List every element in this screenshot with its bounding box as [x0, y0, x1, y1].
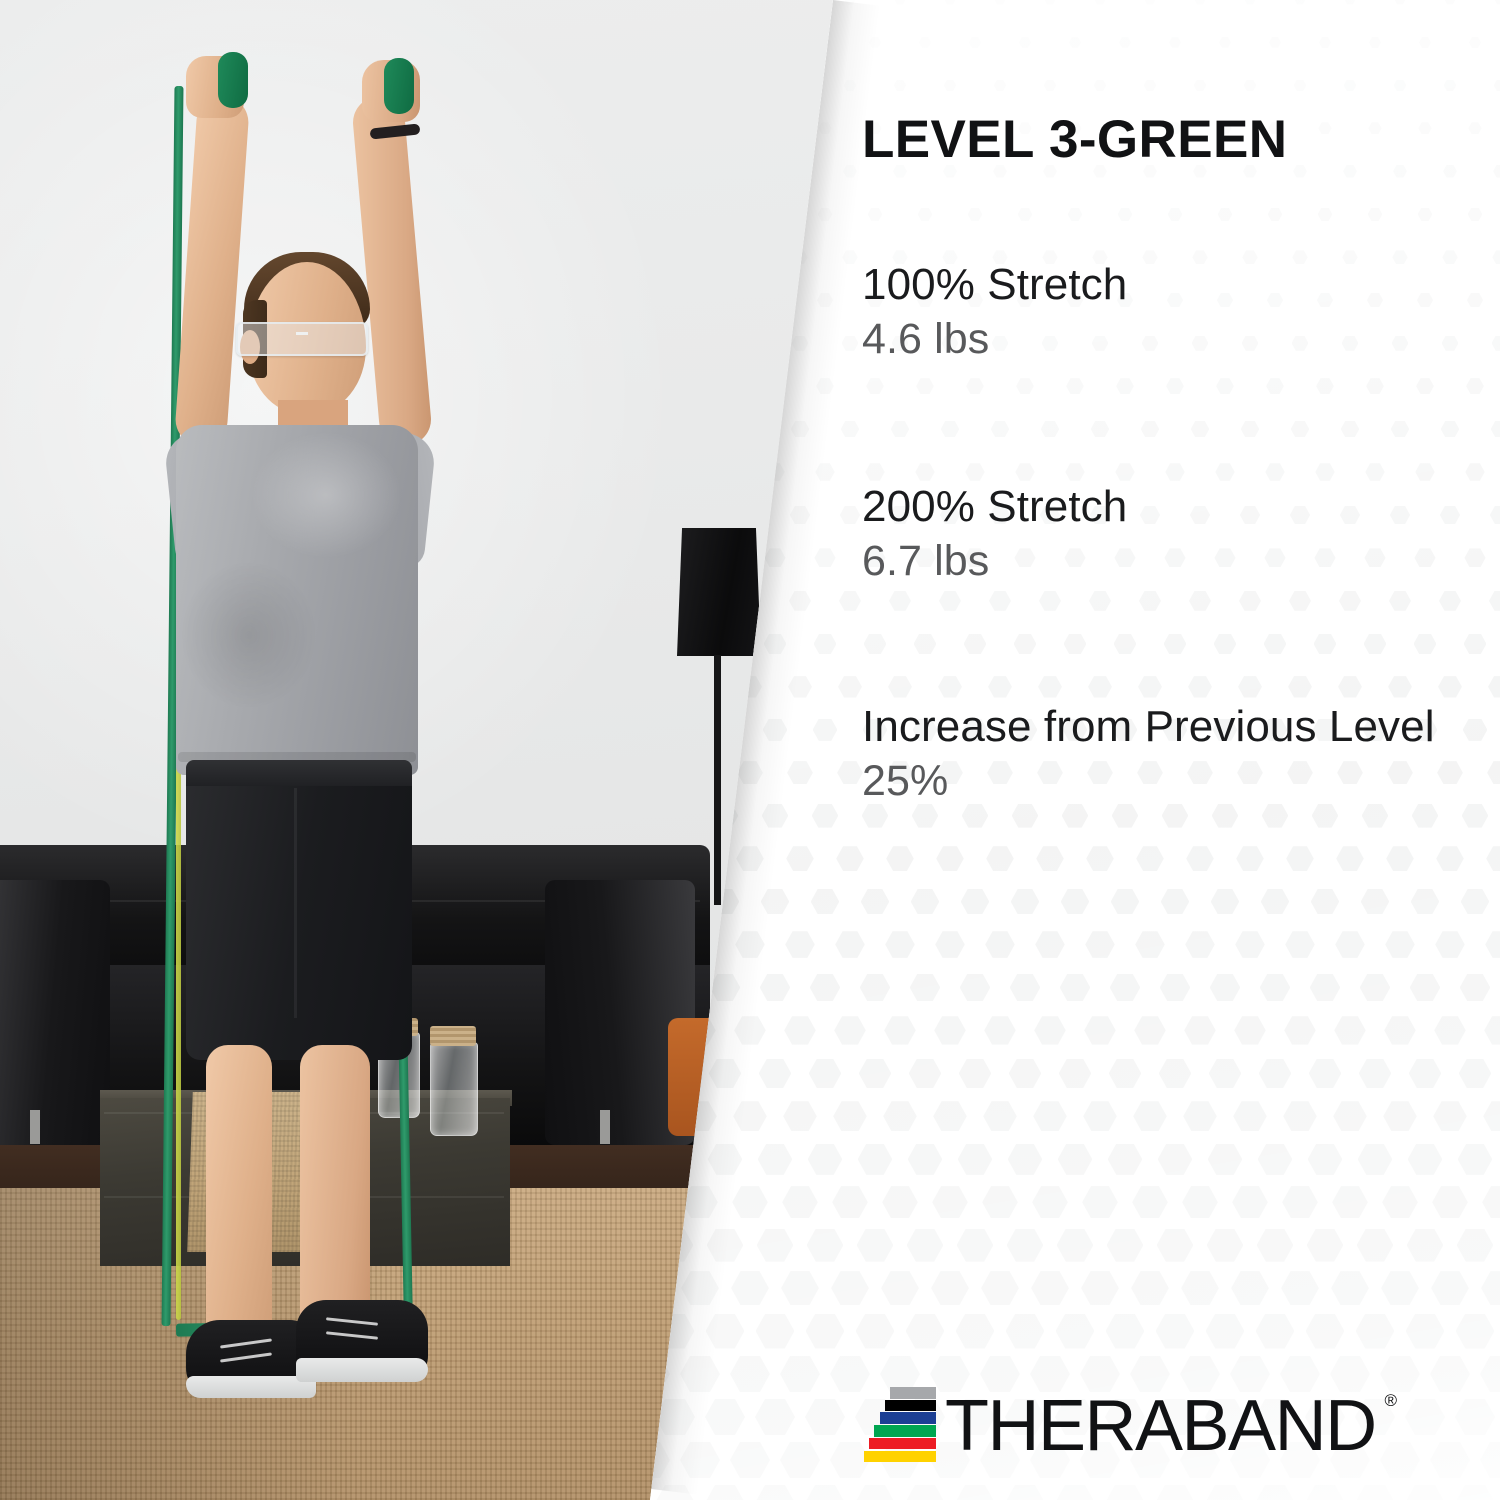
- left-leg: [206, 1045, 272, 1345]
- black-shorts: [186, 760, 412, 1060]
- stat-increase-from-previous-level: Increase from Previous Level 25%: [862, 700, 1462, 808]
- shoe-lace: [220, 1338, 272, 1348]
- product-feature-card: LEVEL 3-GREEN 100% Stretch 4.6 lbs 200% …: [0, 0, 1500, 1500]
- gray-tshirt: [176, 425, 418, 775]
- theraband-logo: THERABAND ®: [864, 1378, 1376, 1474]
- brand-name-text: THERABAND: [945, 1386, 1376, 1466]
- shorts-waistband: [186, 760, 412, 786]
- right-shoe: [296, 1300, 428, 1382]
- theraband-wordmark: THERABAND ®: [945, 1390, 1376, 1462]
- stat-100-stretch: 100% Stretch 4.6 lbs: [862, 258, 1462, 366]
- page-title: LEVEL 3-GREEN: [862, 113, 1287, 166]
- couch-arm-left: [0, 880, 110, 1145]
- stat-value: 6.7 lbs: [862, 534, 1462, 588]
- jar-lid: [430, 1026, 476, 1046]
- shoe-lace: [326, 1331, 378, 1339]
- shoe-lace: [220, 1352, 272, 1362]
- shoe-sole: [296, 1358, 428, 1382]
- registered-trademark-icon: ®: [1385, 1392, 1396, 1409]
- stat-value: 4.6 lbs: [862, 312, 1462, 366]
- band-grip-left: [218, 52, 248, 108]
- yellow-bar: [864, 1451, 936, 1463]
- stat-value: 25%: [862, 754, 1462, 808]
- stat-label: 200% Stretch: [862, 480, 1462, 534]
- theraband-color-bars-icon: [864, 1387, 936, 1465]
- silver-bar: [890, 1387, 936, 1399]
- glass-jar: [430, 1042, 478, 1136]
- black-bar: [885, 1400, 936, 1412]
- red-bar: [869, 1438, 936, 1450]
- floor-lamp-shade: [677, 528, 761, 656]
- floor-lamp-pole: [714, 655, 721, 905]
- shoe-lace: [326, 1317, 378, 1325]
- stat-200-stretch: 200% Stretch 6.7 lbs: [862, 480, 1462, 588]
- couch-leg: [600, 1110, 610, 1144]
- band-grip-right: [384, 58, 414, 114]
- safety-glasses: [236, 322, 368, 356]
- blue-bar: [880, 1412, 936, 1424]
- stat-label: Increase from Previous Level: [862, 700, 1462, 754]
- green-bar: [874, 1425, 936, 1437]
- stat-label: 100% Stretch: [862, 258, 1462, 312]
- couch-leg: [30, 1110, 40, 1144]
